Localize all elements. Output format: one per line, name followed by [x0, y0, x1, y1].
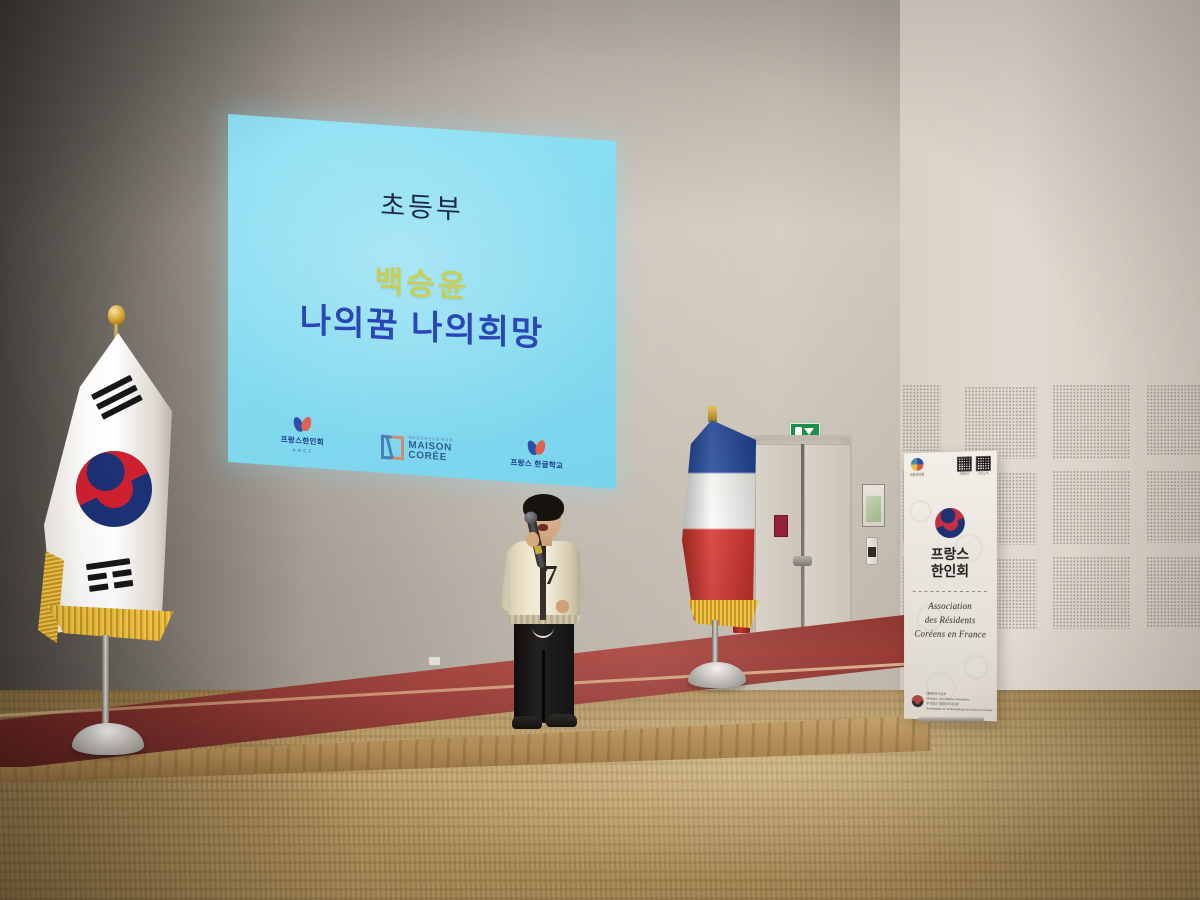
taegukgi-cloth — [44, 333, 172, 633]
flag-stand-base — [72, 723, 144, 755]
auditorium-photo: 초등부 백승윤 나의꿈 나의희망 프랑스한인회 A.R.C.F 재외동포재단지원… — [0, 0, 1200, 900]
banner-subtitle-line3: Coréens en France — [904, 627, 997, 642]
banner-qr-codes: 홈페이지 카카오톡 — [957, 456, 991, 476]
france-korean-school-logo: 프랑스 한글학교 — [510, 438, 563, 472]
gov-emblem-icon — [911, 458, 924, 471]
presenter-mouth — [538, 524, 548, 531]
taegeuk-icon — [294, 416, 311, 434]
presenter-jersey-number: 7 — [544, 562, 558, 589]
french-flag — [676, 406, 786, 686]
banner-base-stand — [918, 717, 984, 721]
maison-monogram-icon — [381, 435, 404, 461]
korean-flag — [36, 305, 206, 765]
trigram-gam — [86, 558, 134, 597]
slide-category: 초등부 — [380, 183, 464, 227]
wall-socket-icon — [428, 656, 441, 666]
flag-stand-base — [688, 662, 746, 688]
slide-speech-title: 나의꿈 나의희망 — [300, 292, 544, 356]
projected-slide: 초등부 백승윤 나의꿈 나의희망 프랑스한인회 A.R.C.F 재외동포재단지원… — [228, 114, 616, 489]
taegeuk-icon — [528, 439, 545, 457]
embassy-taeguk-icon — [912, 695, 924, 707]
presenter-pants-seam — [542, 650, 545, 722]
presenter-shoe-left — [512, 716, 542, 729]
taeguk-circle-icon — [63, 438, 165, 540]
wall-poster — [862, 484, 885, 527]
gov-logo-caption: 국립국어원 — [910, 472, 924, 477]
flag-pole-finial — [108, 305, 125, 325]
banner-divider — [913, 591, 988, 592]
flag-stand-rod — [102, 635, 109, 735]
qr-code-icon — [976, 456, 991, 472]
qr-label: 카카오톡 — [976, 471, 991, 475]
hand-sanitizer-dispenser — [866, 537, 878, 565]
trigram-geon — [91, 375, 145, 424]
banner-title-line2: 한인회 — [904, 563, 997, 580]
tricolore-shading — [682, 420, 756, 620]
logo-caption: 프랑스한인회 — [281, 434, 324, 448]
banner-subtitle-line2: des Résidents — [904, 614, 997, 629]
qr-label: 홈페이지 — [957, 471, 972, 475]
banner-subtitle-line1: Association — [904, 600, 997, 614]
banner-gov-logo: 국립국어원 — [910, 458, 924, 477]
maison-de-coree-logo: 재외동포재단지원 한국관 MAISON CORÉE — [381, 435, 453, 464]
presenter-shoe-right — [546, 714, 577, 727]
rollup-banner: 국립국어원 홈페이지 카카오톡 프랑스 한인회 Association — [904, 451, 997, 722]
qr-code-icon — [957, 456, 972, 471]
banner-title: 프랑스 한인회 — [904, 546, 997, 581]
banner-footer: 대한민국 외교부 Ministère des Affaires étrangèr… — [912, 691, 993, 712]
flag-fringe-bottom — [680, 600, 760, 628]
france-korean-association-logo: 프랑스한인회 A.R.C.F — [281, 415, 324, 455]
banner-swirl-pattern — [904, 451, 997, 722]
door-handle-icon — [793, 556, 812, 566]
banner-subtitle: Association des Résidents Coréens en Fra… — [904, 600, 997, 643]
presenter-hand-right — [556, 600, 569, 613]
banner-title-line1: 프랑스 — [904, 546, 997, 564]
child-presenter: 7 — [498, 488, 590, 750]
flag-pole-finial — [708, 406, 717, 422]
